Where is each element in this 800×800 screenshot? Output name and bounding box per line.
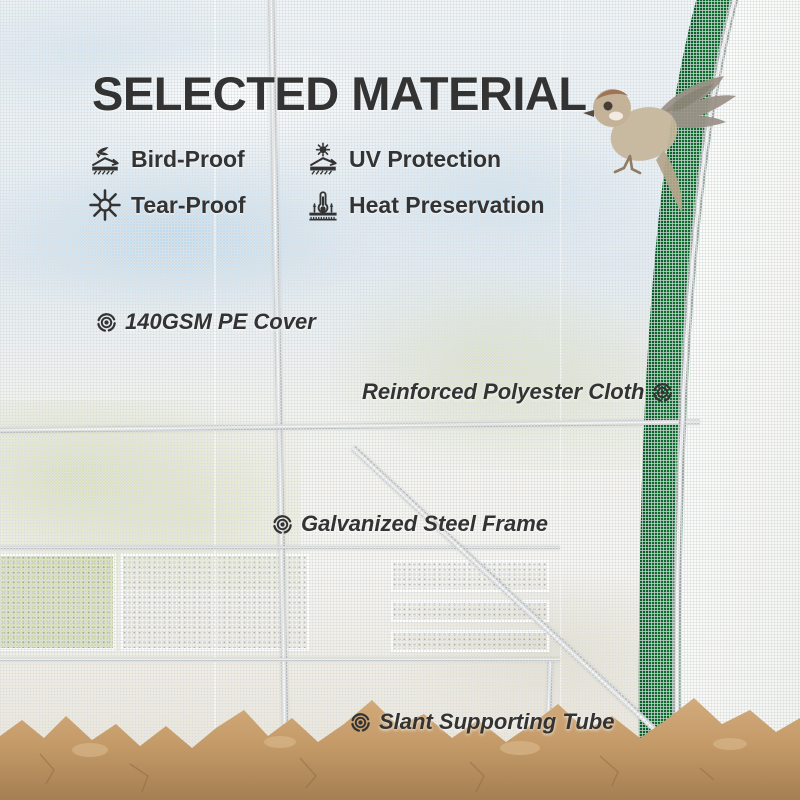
feature-label: Heat Preservation xyxy=(349,192,545,219)
feature-list: Bird-Proof UV Protection xyxy=(88,136,545,228)
callout-galvanized-steel-frame: Galvanized Steel Frame xyxy=(272,511,548,537)
page-title: SELECTED MATERIAL xyxy=(92,70,587,117)
feature-label: UV Protection xyxy=(349,146,501,173)
callout-label: Reinforced Polyester Cloth xyxy=(362,379,644,405)
feature-label: Bird-Proof xyxy=(131,146,245,173)
sparrow-bird xyxy=(572,42,757,227)
feature-bird-proof: Bird-Proof xyxy=(88,142,306,176)
product-feature-image: SELECTED MATERIAL Bird-Proof xyxy=(0,0,800,800)
feature-heat-preservation: Heat Preservation xyxy=(306,188,545,222)
callout-label: 140GSM PE Cover xyxy=(125,309,316,335)
target-icon xyxy=(272,514,293,535)
callout-reinforced-polyester-cloth: Reinforced Polyester Cloth xyxy=(362,379,673,405)
bird-proof-icon xyxy=(88,142,122,176)
feature-label: Tear-Proof xyxy=(131,192,246,219)
soil-bed xyxy=(0,680,800,800)
target-icon xyxy=(652,382,673,403)
callout-140gsm-pe-cover: 140GSM PE Cover xyxy=(96,309,316,335)
feature-uv-protection: UV Protection xyxy=(306,142,545,176)
feature-tear-proof: Tear-Proof xyxy=(88,188,306,222)
callout-slant-supporting-tube: Slant Supporting Tube xyxy=(350,709,614,735)
callout-label: Slant Supporting Tube xyxy=(379,709,614,735)
target-icon xyxy=(96,312,117,333)
tear-proof-icon xyxy=(88,188,122,222)
target-icon xyxy=(350,712,371,733)
callout-label: Galvanized Steel Frame xyxy=(301,511,548,537)
uv-protection-icon xyxy=(306,142,340,176)
heat-preservation-icon xyxy=(306,188,340,222)
